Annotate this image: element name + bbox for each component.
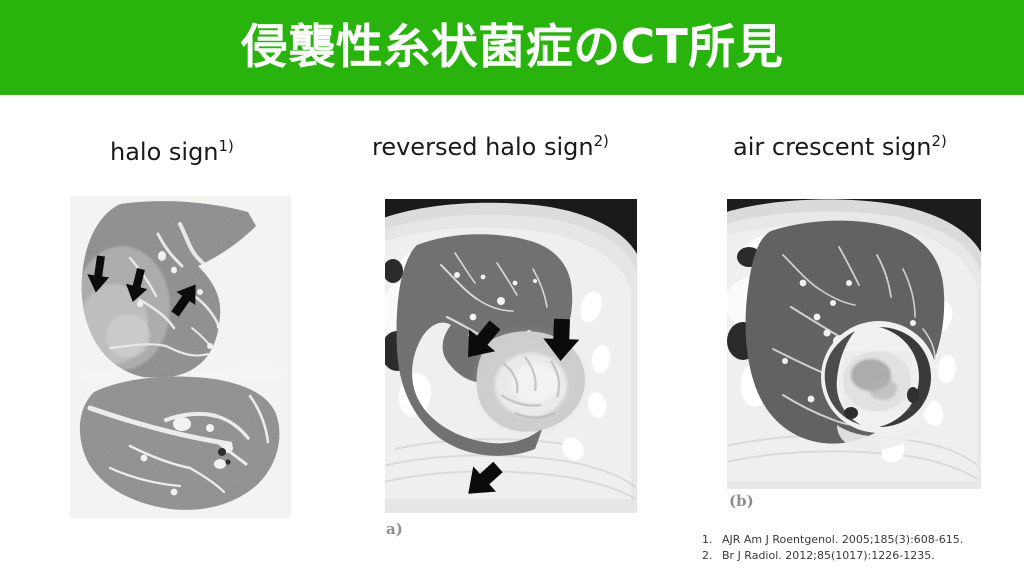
- caption-reversed-halo-sign-text: reversed halo sign: [372, 133, 594, 161]
- caption-reversed-halo-sign-superscript: 2): [594, 132, 609, 150]
- caption-halo-sign: halo sign1): [110, 139, 234, 164]
- caption-air-crescent-sign: air crescent sign2): [733, 134, 947, 159]
- slide-root: 侵襲性糸状菌症のCT所見 halo sign1) reversed halo s…: [0, 0, 1024, 576]
- ct-image-air-crescent-sign: [727, 199, 981, 489]
- ct-image-halo-sign: [70, 196, 291, 518]
- caption-air-crescent-sign-text: air crescent sign: [733, 133, 932, 161]
- figure-label-b: (b): [729, 494, 754, 509]
- caption-halo-sign-text: halo sign: [110, 138, 219, 166]
- reference-item-1: 1. AJR Am J Roentgenol. 2005;185(3):608-…: [702, 532, 1012, 548]
- title-band: 侵襲性糸状菌症のCT所見: [0, 0, 1024, 95]
- references-list: 1. AJR Am J Roentgenol. 2005;185(3):608-…: [702, 532, 1012, 564]
- reference-text-2: Br J Radiol. 2012;85(1017):1226-1235.: [722, 548, 1012, 564]
- figure-label-a: a): [386, 522, 403, 537]
- reference-text-1: AJR Am J Roentgenol. 2005;185(3):608-615…: [722, 532, 1012, 548]
- reference-number-2: 2.: [702, 548, 722, 564]
- caption-air-crescent-sign-superscript: 2): [932, 132, 947, 150]
- reference-item-2: 2. Br J Radiol. 2012;85(1017):1226-1235.: [702, 548, 1012, 564]
- page-title: 侵襲性糸状菌症のCT所見: [241, 24, 784, 71]
- reference-number-1: 1.: [702, 532, 722, 548]
- caption-reversed-halo-sign: reversed halo sign2): [372, 134, 609, 159]
- caption-halo-sign-superscript: 1): [219, 137, 234, 155]
- ct-image-reversed-halo-sign: [385, 199, 637, 513]
